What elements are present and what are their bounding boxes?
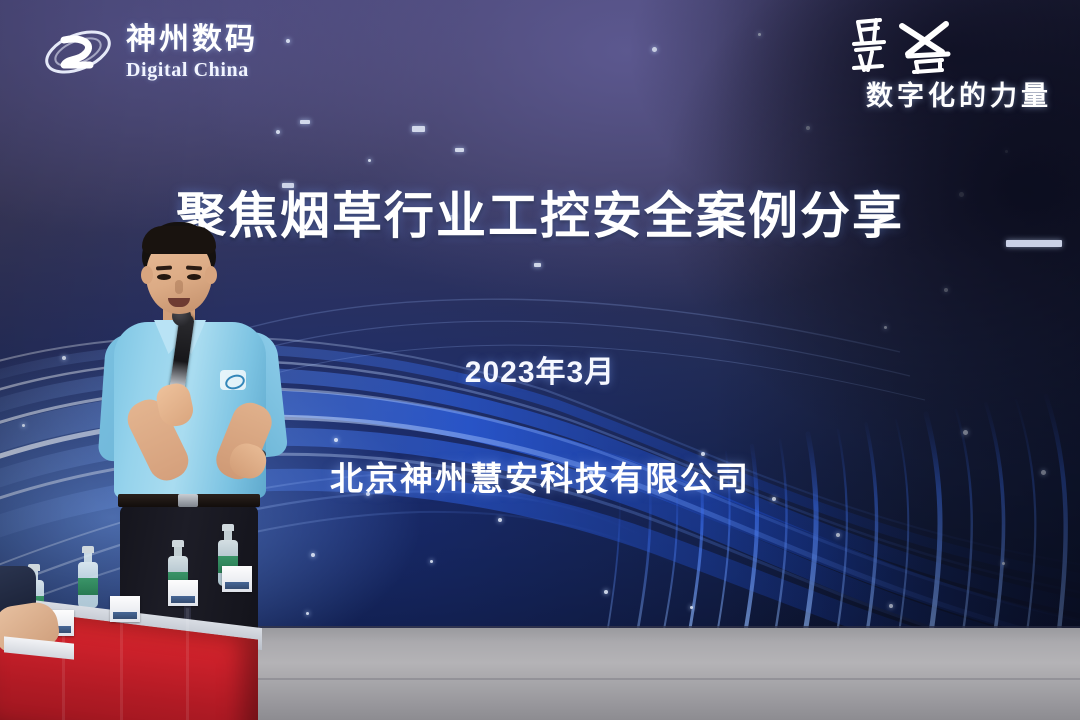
juhe-calligraphy-icon — [842, 16, 1052, 78]
bottle-neck — [224, 531, 232, 540]
event-slogan: 数字化的力量 — [842, 74, 1052, 113]
name-card — [110, 596, 140, 622]
brand-name-en: Digital China — [126, 60, 258, 80]
stage-photo-scene: 神州数码 Digital China 数字化的力量 — [0, 0, 1080, 720]
event-logo: 数字化的力量 — [842, 16, 1052, 113]
cloth-fold — [120, 608, 123, 720]
bottle-label — [78, 578, 98, 595]
water-bottle — [78, 546, 98, 608]
digital-china-wordmark: 神州数码 Digital China — [126, 25, 258, 80]
bottle-cap — [82, 546, 94, 553]
cloth-fold — [186, 608, 189, 720]
shirt-chest-logo-icon — [220, 370, 246, 390]
belt-buckle — [178, 494, 198, 507]
decorative-dash — [1006, 240, 1062, 247]
speaker-nose — [175, 280, 183, 294]
speaker-hair-front — [142, 226, 216, 254]
digital-china-logo: 神州数码 Digital China — [42, 20, 258, 84]
speaker-right-eye — [187, 274, 201, 280]
speaker-left-eye — [157, 274, 171, 280]
bottle-cap — [222, 524, 234, 531]
name-card — [222, 566, 252, 592]
speaker-left-ear — [141, 266, 153, 284]
name-card — [168, 580, 198, 606]
speaker-right-ear — [205, 266, 217, 284]
bottle-cap — [172, 540, 184, 547]
bottle-neck — [174, 547, 182, 556]
bottle-body — [78, 562, 98, 608]
digital-china-swirl-icon — [42, 20, 114, 84]
bottle-neck — [84, 553, 92, 562]
brand-name-cn: 神州数码 — [126, 25, 258, 55]
